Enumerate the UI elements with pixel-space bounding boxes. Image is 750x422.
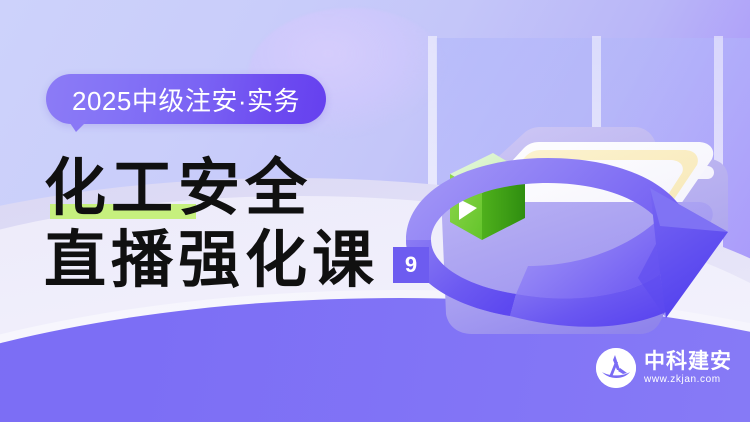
course-tag-label: 2025中级注安·实务 [72, 81, 300, 118]
window-pane-divider-right [714, 36, 723, 362]
headline-line-2: 直播强化课 [44, 224, 379, 296]
course-banner: 2025中级注安·实务 化工安全 直播强化课 9 中科建安 www.zkjan.… [0, 0, 750, 422]
folder-front-shape [442, 202, 713, 334]
brand-mark-icon [596, 348, 636, 388]
headline-line-1-row: 化工安全 [44, 152, 464, 224]
brand-text-block: 中科建安 www.zkjan.com [644, 350, 732, 386]
course-tag-pill: 2025中级注安·实务 [46, 74, 326, 124]
folder-back-shape [458, 127, 728, 231]
headline-block: 化工安全 直播强化课 9 [44, 152, 464, 296]
window-pane-divider-middle [592, 36, 601, 362]
headline-line-1: 化工安全 [44, 152, 312, 224]
episode-number-badge: 9 [393, 247, 429, 283]
brand-url: www.zkjan.com [644, 373, 732, 386]
pill-tail-icon [68, 120, 88, 132]
headline-line-2-row: 直播强化课 9 [44, 224, 464, 296]
brand-name: 中科建安 [644, 350, 732, 373]
brand-logo: 中科建安 www.zkjan.com [596, 348, 732, 388]
paper-stack [456, 142, 713, 240]
window-pane-fill [436, 38, 750, 362]
